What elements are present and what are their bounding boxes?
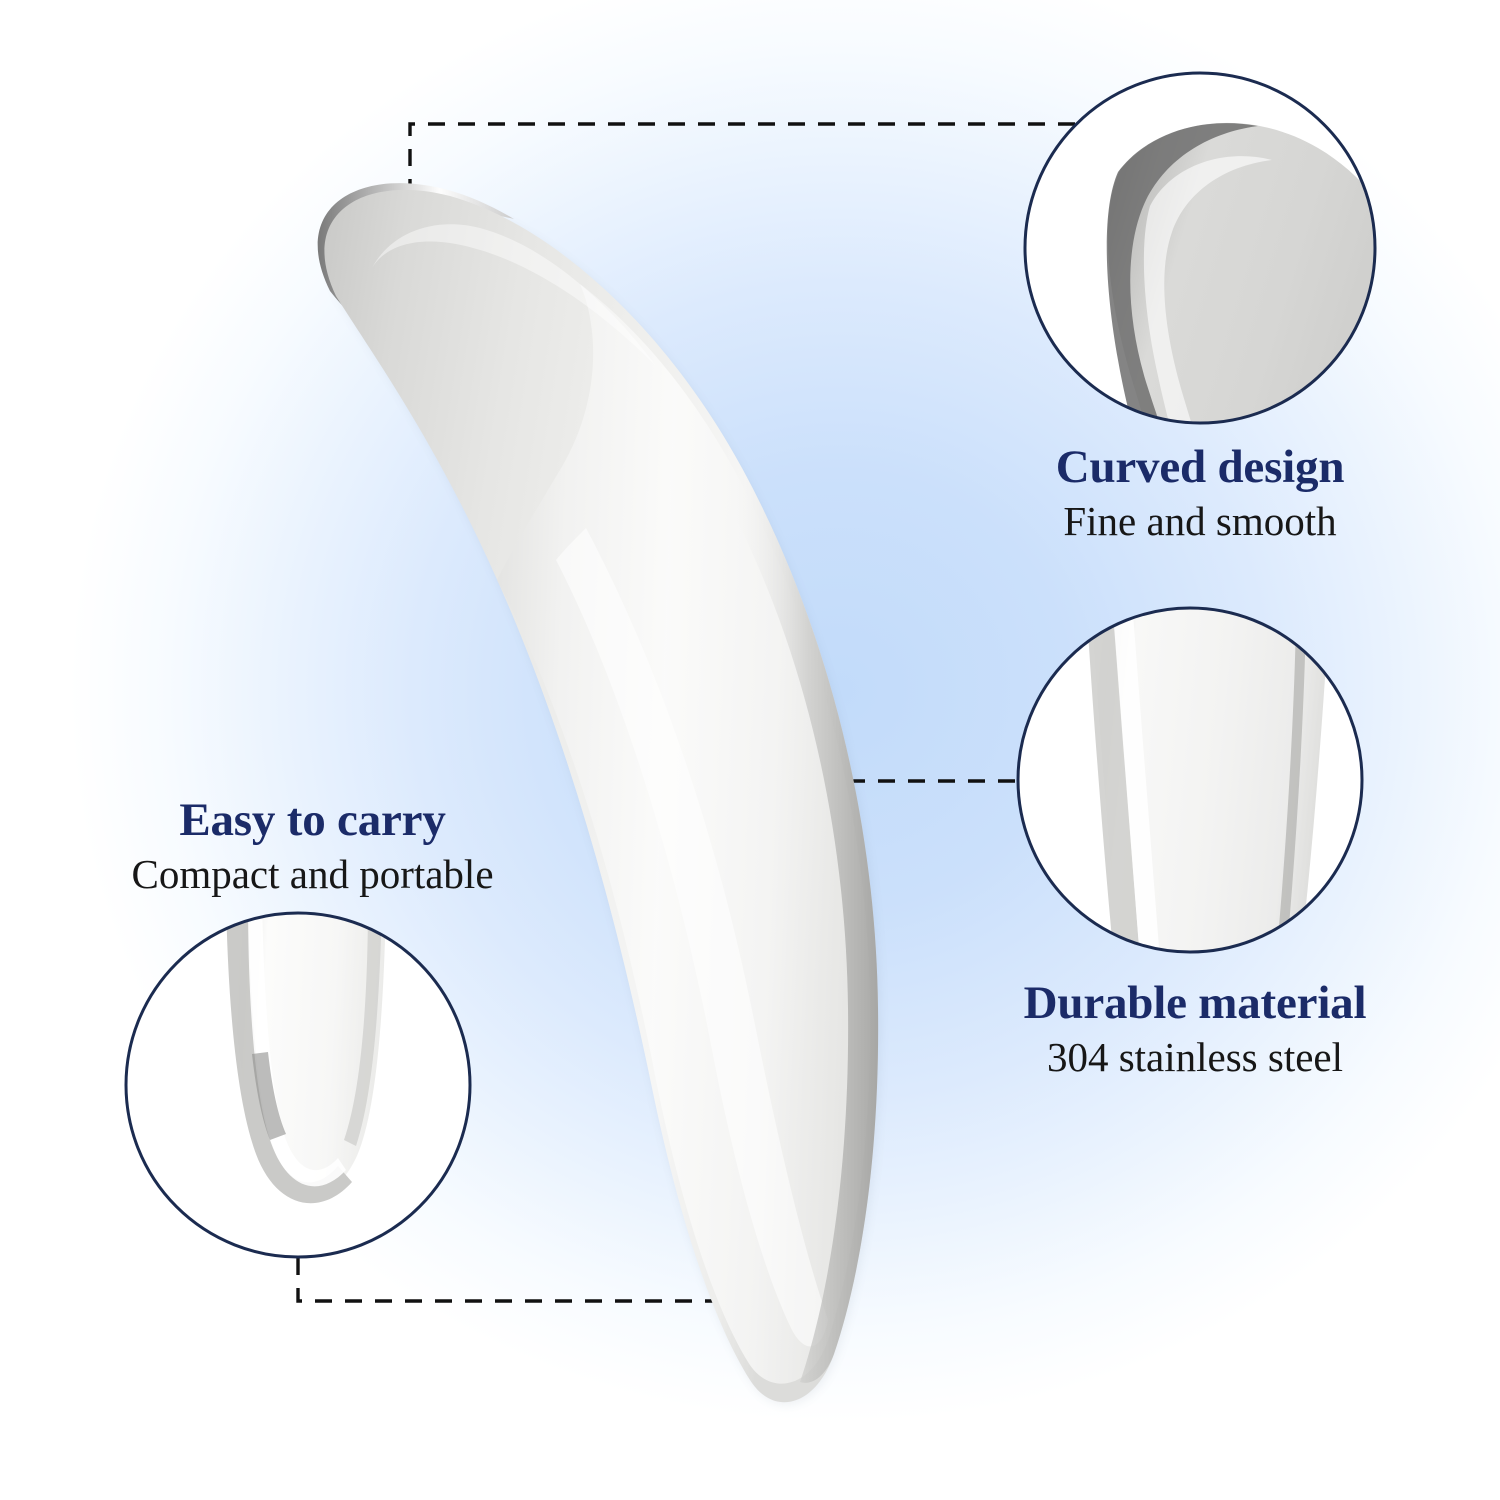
callout-easy-to-carry-subtitle: Compact and portable <box>100 852 525 896</box>
connector-top <box>410 124 1088 226</box>
callout-easy-to-carry-title: Easy to carry <box>100 795 525 846</box>
callout-durable-material-title: Durable material <box>995 978 1395 1029</box>
callout-curved-design-title: Curved design <box>1030 442 1370 493</box>
detail-circle-bottom-tip <box>126 900 470 1257</box>
detail-circle-mid-edge <box>1018 600 1362 960</box>
callout-durable-material-subtitle: 304 stainless steel <box>995 1035 1395 1079</box>
product-illustration <box>0 0 1500 1500</box>
infographic-canvas: Curved design Fine and smooth Durable ma… <box>0 0 1500 1500</box>
callout-curved-design: Curved design Fine and smooth <box>1030 442 1370 543</box>
callout-curved-design-subtitle: Fine and smooth <box>1030 499 1370 543</box>
callout-easy-to-carry: Easy to carry Compact and portable <box>100 795 525 896</box>
callout-durable-material: Durable material 304 stainless steel <box>995 978 1395 1079</box>
